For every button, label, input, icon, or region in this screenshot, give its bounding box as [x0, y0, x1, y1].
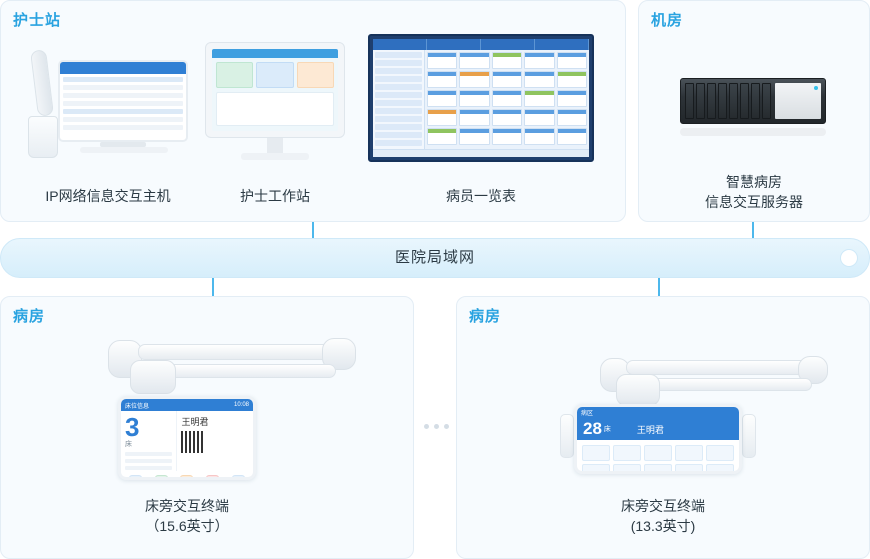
board-bed-cell — [427, 90, 457, 107]
caption-server-line2: 信息交互服务器 — [638, 192, 870, 212]
ellipsis-dot-icon — [434, 424, 439, 429]
server-drive-bay — [751, 83, 760, 119]
caption-terminal-156-line1: 床旁交互终端 — [107, 496, 267, 516]
board-bed-cell — [557, 90, 587, 107]
nurse-workstation-frame — [205, 42, 345, 138]
terminal-13-3-assembly: 病区 28 床 王明君 — [560, 404, 756, 480]
board-left-row — [375, 116, 422, 122]
board-bed-cell — [427, 128, 457, 145]
ellipsis-dot-icon — [424, 424, 429, 429]
server-drive-bay — [762, 83, 771, 119]
board-screen — [373, 39, 589, 157]
board-left-row — [375, 84, 422, 90]
caption-bedside-terminal-15-6: 床旁交互终端 （15.6英寸） — [107, 496, 267, 536]
server-drive-bay — [696, 83, 705, 119]
screen-row — [63, 101, 183, 106]
board-left-row — [375, 100, 422, 106]
terminal-status-time: 10:08 — [234, 402, 249, 408]
function-tile-meal[interactable] — [582, 464, 610, 474]
ward-2-pendant-arm — [600, 346, 834, 408]
caption-terminal-133-line1: 床旁交互终端 — [583, 496, 743, 516]
board-header-cell — [427, 39, 481, 50]
terminal-status-left: 床位信息 — [125, 401, 149, 410]
board-bed-cell — [427, 71, 457, 88]
board-bed-cell — [524, 71, 554, 88]
arm-bar-lower — [652, 378, 812, 391]
caption-patient-list-board: 病员一览表 — [368, 186, 594, 206]
server-drive-bay — [707, 83, 716, 119]
function-tile-settings[interactable] — [706, 464, 734, 474]
board-bed-cell — [459, 128, 489, 145]
caption-terminal-156-line2: （15.6英寸） — [107, 516, 267, 536]
board-screen-body — [373, 50, 589, 157]
arm-joint-head — [616, 374, 660, 406]
board-left-row — [375, 68, 422, 74]
screen-card — [256, 62, 293, 88]
ellipsis-dot-icon — [444, 424, 449, 429]
device-patient-list-board — [368, 34, 594, 162]
board-bed-cell — [459, 52, 489, 69]
terminal-info-line — [125, 466, 172, 470]
caption-nurse-workstation: 护士工作站 — [205, 186, 345, 206]
screen-topbar — [212, 49, 338, 58]
terminal-bed-info: 3 床 — [121, 411, 176, 471]
board-bed-cell — [524, 90, 554, 107]
connector-nurse-to-lan — [312, 222, 314, 238]
board-bed-cell — [492, 52, 522, 69]
screen-card — [297, 62, 334, 88]
server-chassis — [680, 78, 826, 124]
terminal-status-bar: 床位信息 10:08 — [121, 399, 253, 411]
terminal-right-wing — [742, 414, 756, 458]
board-bed-cell — [427, 52, 457, 69]
phone-handset-icon — [30, 49, 54, 116]
board-bed-cell — [557, 71, 587, 88]
terminal-function-grid-133[interactable] — [577, 440, 739, 474]
board-left-row — [375, 92, 422, 98]
terminal-head-133: 28 床 王明君 — [577, 418, 739, 440]
terminal-main-area: 3 床 王明君 — [121, 411, 253, 471]
message-icon[interactable] — [129, 475, 142, 480]
panel-ward-2-title: 病房 — [469, 305, 501, 326]
device-server — [680, 78, 826, 144]
server-status-led-icon — [814, 86, 818, 90]
screen-card — [216, 62, 253, 88]
arm-bar-upper — [138, 344, 338, 360]
diagram-root: 护士站 IP网络信息交互主机 — [0, 0, 870, 559]
caption-server-line1: 智慧病房 — [638, 172, 870, 192]
board-bed-cell — [459, 109, 489, 126]
screen-row — [63, 125, 183, 130]
terminal-patient-info: 王明君 — [176, 411, 253, 471]
function-tile-education[interactable] — [644, 445, 672, 461]
terminal-left-wing — [560, 414, 574, 458]
screen-row — [63, 109, 183, 114]
board-screen-footer — [373, 149, 589, 157]
caption-terminal-133-line2: (13.3英寸) — [583, 516, 743, 536]
ip-host-screen-body — [60, 74, 186, 136]
arm-bar-lower — [168, 364, 336, 378]
screen-row — [63, 117, 183, 122]
arm-bar-upper — [626, 360, 812, 375]
board-bed-cell — [557, 109, 587, 126]
board-bed-cell — [459, 71, 489, 88]
device-bedside-terminal-15-6[interactable]: 床位信息 10:08 3 床 王明君 — [118, 396, 256, 480]
board-left-row — [375, 52, 422, 58]
function-tile-call[interactable] — [613, 464, 641, 474]
qr-code-icon — [181, 431, 203, 453]
board-bed-cell — [492, 90, 522, 107]
terminal-info-line — [125, 459, 172, 463]
server-drive-bay — [729, 83, 738, 119]
terminal-bed-number: 3 — [125, 415, 172, 439]
board-left-row — [375, 140, 422, 146]
board-bed-cell — [427, 109, 457, 126]
terminal-bed-unit-133: 床 — [604, 424, 611, 434]
board-bed-cell — [492, 71, 522, 88]
screen-card-row — [212, 58, 338, 88]
function-tile-video[interactable] — [644, 464, 672, 474]
server-drive-bay — [718, 83, 727, 119]
board-bed-cell — [524, 128, 554, 145]
monitor-base — [241, 153, 309, 160]
server-drive-bays — [685, 83, 771, 119]
caption-bedside-terminal-13-3: 床旁交互终端 (13.3英寸) — [583, 496, 743, 536]
meal-icon[interactable] — [180, 475, 193, 480]
ward-continuation-ellipsis — [416, 424, 456, 429]
terminal-home-button[interactable] — [174, 479, 200, 480]
terminal-info-line — [125, 452, 172, 456]
board-bed-cell — [557, 128, 587, 145]
panel-ward-1-title: 病房 — [13, 305, 45, 326]
board-left-row — [375, 76, 422, 82]
screen-row — [63, 93, 183, 98]
terminal-status-left-133: 病区 — [581, 408, 593, 417]
function-tile-survey[interactable] — [706, 445, 734, 461]
function-tile-profile[interactable] — [675, 464, 703, 474]
board-left-column — [373, 50, 425, 157]
caption-server: 智慧病房 信息交互服务器 — [638, 172, 870, 212]
screen-row — [63, 85, 183, 90]
settings-icon[interactable] — [232, 475, 245, 480]
nurse-workstation-screen — [212, 49, 338, 131]
server-control-panel — [775, 83, 821, 119]
ip-host-foot — [80, 147, 168, 153]
function-tile-orders[interactable] — [613, 445, 641, 461]
board-bed-grid — [425, 50, 589, 157]
board-bed-cell — [492, 109, 522, 126]
board-left-row — [375, 124, 422, 130]
function-tile-notice[interactable] — [582, 445, 610, 461]
board-frame — [368, 34, 594, 162]
panel-server-room-title: 机房 — [651, 9, 683, 30]
phone-base — [28, 116, 58, 158]
terminal-status-bar-133: 病区 — [577, 407, 739, 418]
connector-server-to-lan — [752, 222, 754, 238]
server-drive-bay — [685, 83, 694, 119]
device-nurse-workstation — [205, 42, 345, 170]
lan-endpoint-dot-icon — [840, 249, 858, 267]
terminal-patient-name: 王明君 — [181, 415, 249, 428]
nurse-call-icon[interactable] — [155, 475, 168, 480]
server-shadow — [680, 128, 826, 136]
function-tile-bill[interactable] — [675, 445, 703, 461]
board-bed-cell — [524, 109, 554, 126]
terminal-bed-number-133: 28 — [583, 419, 602, 439]
board-left-row — [375, 60, 422, 66]
caption-ip-network-host: IP网络信息交互主机 — [28, 186, 188, 206]
panel-nurse-station-title: 护士站 — [13, 9, 61, 30]
board-header-cell — [535, 39, 589, 50]
board-header-cell — [481, 39, 535, 50]
board-left-row — [375, 108, 422, 114]
connector-lan-to-ward-1 — [212, 278, 214, 296]
terminal-icon-row[interactable] — [121, 471, 253, 480]
board-bed-cell — [492, 128, 522, 145]
device-ip-network-host — [28, 46, 188, 166]
monitor-neck — [267, 138, 283, 154]
ip-host-screen-topbar — [60, 62, 186, 74]
board-bed-cell — [557, 52, 587, 69]
emergency-icon[interactable] — [206, 475, 219, 480]
ward-1-pendant-arm — [108, 330, 360, 396]
server-drive-bay — [740, 83, 749, 119]
board-screen-header — [373, 39, 589, 50]
terminal-patient-name-133: 王明君 — [637, 423, 664, 436]
board-bed-cell — [459, 90, 489, 107]
ip-host-screen — [58, 60, 188, 142]
screen-row — [63, 77, 183, 82]
board-header-cell — [373, 39, 427, 50]
device-bedside-terminal-13-3[interactable]: 病区 28 床 王明君 — [574, 404, 742, 474]
connector-lan-to-ward-2 — [658, 278, 660, 296]
hospital-lan-label: 医院局域网 — [0, 238, 870, 278]
board-bed-cell — [524, 52, 554, 69]
board-left-row — [375, 132, 422, 138]
arm-joint-head — [130, 360, 176, 394]
screen-panel — [216, 92, 334, 126]
